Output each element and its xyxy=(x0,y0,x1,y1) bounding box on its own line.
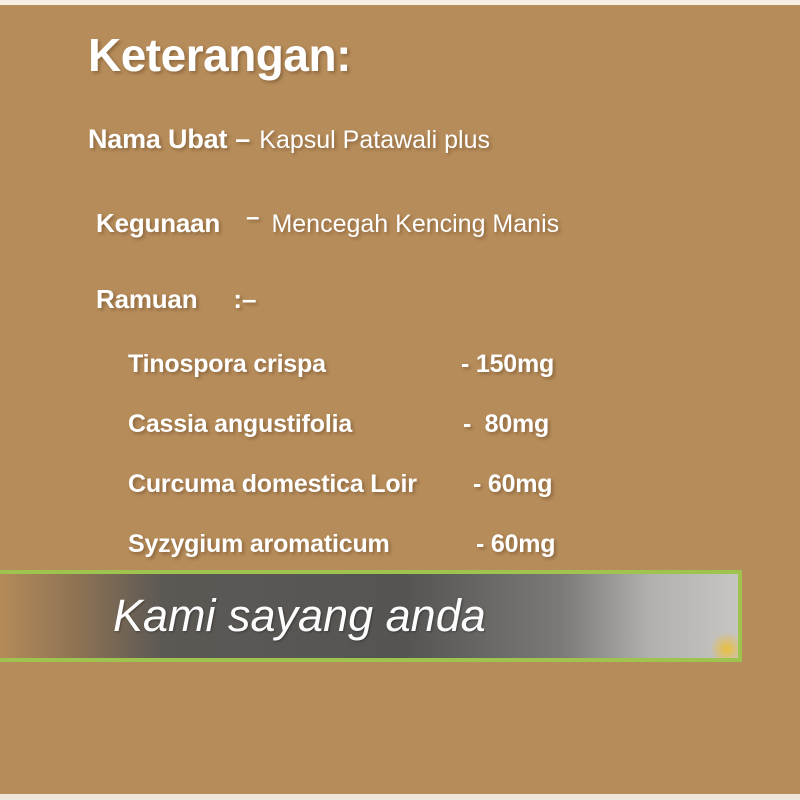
ingredient-dose: - 60mg xyxy=(473,470,552,499)
ingredient-name: Tinospora crispa xyxy=(128,350,326,379)
ingredient-dose: - 80mg xyxy=(463,410,549,439)
ingredient-dose: - 150mg xyxy=(461,350,554,379)
ingredient-row: Curcuma domestica Loir - 60mg xyxy=(128,470,688,530)
ingredient-dose: - 60mg xyxy=(476,530,555,559)
field-value-kegunaan: Mencegah Kencing Manis xyxy=(271,210,559,239)
slogan-banner: Kami sayang anda xyxy=(0,570,742,662)
ingredient-name: Cassia angustifolia xyxy=(128,410,352,439)
field-separator-kegunaan: – xyxy=(246,204,259,232)
slogan-text: Kami sayang anda xyxy=(113,590,486,642)
field-label-ramuan: Ramuan xyxy=(96,284,197,315)
field-label-kegunaan: Kegunaan xyxy=(96,208,220,239)
field-label-nama-ubat: Nama Ubat xyxy=(88,124,227,155)
ingredient-row: Cassia angustifolia - 80mg xyxy=(128,410,688,470)
ingredient-row: Tinospora crispa - 150mg xyxy=(128,350,688,410)
field-separator-nama-ubat: – xyxy=(235,124,250,155)
ingredient-name: Syzygium aromaticum xyxy=(128,530,390,559)
ingredient-name: Curcuma domestica Loir xyxy=(128,470,417,499)
field-row-nama-ubat: Nama Ubat – Kapsul Patawali plus xyxy=(88,124,490,155)
ingredient-list: Tinospora crispa - 150mg Cassia angustif… xyxy=(128,350,688,590)
field-separator-ramuan: :– xyxy=(233,284,256,315)
field-value-nama-ubat: Kapsul Patawali plus xyxy=(259,126,490,155)
bottom-edge-strip xyxy=(0,794,800,800)
top-edge-strip xyxy=(0,0,800,5)
field-row-ramuan: Ramuan :– xyxy=(96,284,257,315)
field-row-kegunaan: Kegunaan – Mencegah Kencing Manis xyxy=(96,208,559,239)
medicine-info-poster: Keterangan: Nama Ubat – Kapsul Patawali … xyxy=(0,0,800,800)
page-title: Keterangan: xyxy=(88,28,351,82)
